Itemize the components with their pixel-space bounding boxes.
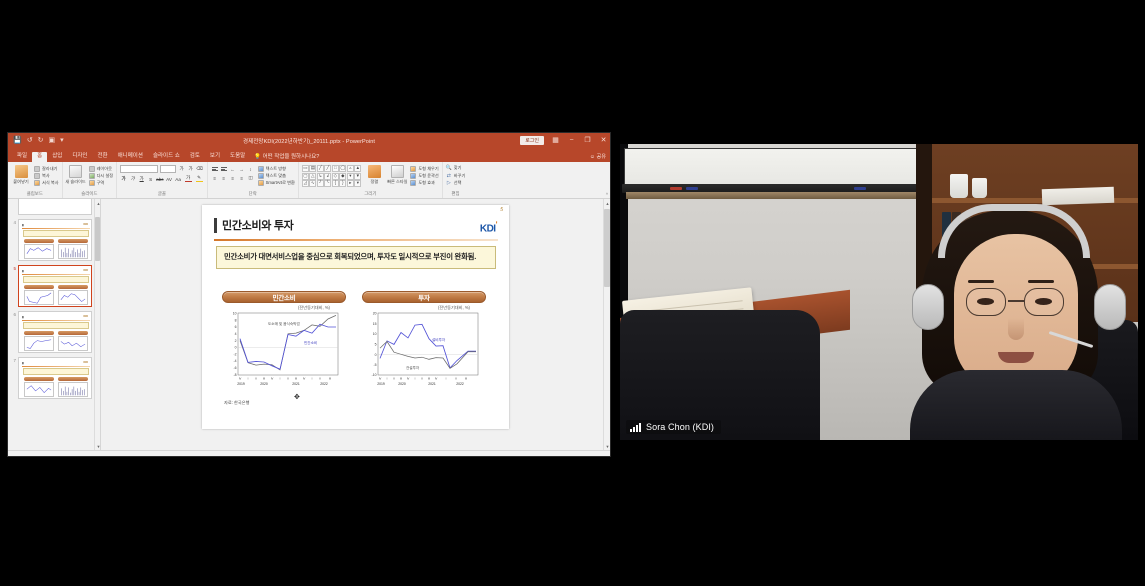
participant-name-badge: Sora Chon (KDI) bbox=[626, 420, 721, 434]
thumbnail-item-7[interactable]: 7 ▮ KDI bbox=[8, 355, 100, 401]
thumbnail-item-5[interactable]: 5 ▮ KDI bbox=[8, 263, 100, 309]
shape-rightarrow-icon[interactable]: ↳ bbox=[317, 173, 324, 180]
chart-source-note: 자료: 한국은행 bbox=[224, 400, 249, 406]
group-label-paragraph: 단락 bbox=[211, 191, 295, 198]
convert-smartart-button[interactable]: SmartArt로 변환 bbox=[258, 180, 295, 186]
svg-text:2: 2 bbox=[235, 339, 237, 343]
shape-outline-icon bbox=[410, 173, 416, 179]
format-painter-icon bbox=[34, 180, 40, 186]
svg-text:III: III bbox=[263, 377, 265, 381]
shape-brace-right-icon[interactable]: } bbox=[339, 180, 346, 187]
smartart-icon bbox=[258, 180, 264, 186]
video-participant-tile[interactable]: Sora Chon (KDI) bbox=[620, 144, 1138, 440]
eye-right bbox=[1035, 298, 1052, 305]
svg-text:2021: 2021 bbox=[292, 382, 300, 386]
quick-styles-button[interactable]: 빠른 스타일 bbox=[387, 165, 407, 185]
group-label-slides: 슬라이드 bbox=[66, 191, 114, 198]
eyebrow-right bbox=[1028, 280, 1054, 283]
clear-formatting-button[interactable]: ⌫ bbox=[196, 165, 203, 173]
chart-header-private-consumption[interactable]: 민간소비 bbox=[222, 291, 346, 303]
paste-button[interactable]: 붙여넣기 bbox=[11, 165, 31, 185]
shape-effects-icon bbox=[410, 180, 416, 186]
pill-label-right: 투자 bbox=[418, 292, 430, 302]
svg-text:2020: 2020 bbox=[260, 382, 268, 386]
reset-button[interactable]: 다시 설정 bbox=[89, 173, 114, 179]
svg-text:-6: -6 bbox=[233, 366, 236, 370]
svg-text:III: III bbox=[400, 377, 402, 381]
text-direction-icon bbox=[258, 166, 264, 172]
columns-button[interactable]: ◫ bbox=[247, 174, 255, 182]
kdi-logo: KDIʹ bbox=[480, 220, 497, 234]
chart-header-investment[interactable]: 투자 bbox=[362, 291, 486, 303]
shape-fill-icon bbox=[410, 166, 416, 172]
svg-text:-10: -10 bbox=[372, 373, 377, 377]
cut-button[interactable]: 잘라내기 bbox=[34, 166, 59, 172]
svg-text:III: III bbox=[465, 377, 467, 381]
section-button[interactable]: 구역 bbox=[89, 180, 114, 186]
find-label: 찾기 bbox=[454, 165, 462, 171]
tab-file[interactable]: 파일 bbox=[12, 152, 32, 163]
eyeglasses-bridge bbox=[1008, 300, 1024, 302]
svg-text:4: 4 bbox=[235, 332, 237, 336]
svg-text:IV: IV bbox=[379, 377, 382, 381]
shape-rectangle-icon[interactable]: ▭ bbox=[302, 165, 309, 172]
character-spacing-button[interactable]: AV bbox=[166, 175, 173, 183]
share-button[interactable]: ☺ 공유 bbox=[590, 153, 606, 160]
participant-person bbox=[910, 210, 1122, 440]
svg-text:IV: IV bbox=[303, 377, 306, 381]
replace-button[interactable]: ⇄ 바꾸기 bbox=[446, 173, 466, 179]
shape-line-icon[interactable]: ╱ bbox=[317, 165, 324, 172]
ribbon-display-options-icon[interactable]: ▦ bbox=[551, 137, 560, 144]
arrange-button[interactable]: 정렬 bbox=[364, 165, 384, 185]
shape-fill-label: 도형 채우기 bbox=[418, 166, 438, 172]
format-painter-label: 서식 복사 bbox=[42, 180, 59, 186]
convert-smartart-label: SmartArt로 변환 bbox=[266, 180, 295, 186]
align-text-label: 텍스트 맞춤 bbox=[266, 173, 286, 179]
ribbon-group-drawing: ▭ ▤ ╱ ╱ □ ◯ ▵ ▲ ▢ △ ↳ ↲ ◇ ◆ ▾ bbox=[299, 162, 443, 198]
wall-shelf bbox=[626, 192, 918, 199]
svg-text:-2: -2 bbox=[233, 352, 236, 356]
shape-effects-button[interactable]: 도형 효과 bbox=[410, 180, 438, 186]
blue-marker bbox=[686, 187, 698, 190]
group-label-editing: 편집 bbox=[446, 191, 466, 198]
strikethrough-button[interactable]: abc bbox=[156, 175, 163, 183]
svg-text:2022: 2022 bbox=[456, 382, 464, 386]
ribbon-group-clipboard: 붙여넣기 잘라내기 복사 서식 복사 bbox=[8, 162, 63, 198]
ribbon-group-paragraph: ← → ↕ ≡ ≡ ≡ ≡ ◫ bbox=[208, 162, 299, 198]
paper-cup-2 bbox=[972, 178, 987, 198]
title-bar: 💾 ↺ ↻ ▣ ▾ 경제전망KDI(2022년하반기)_20111.pptx -… bbox=[8, 133, 610, 148]
ribbon: 붙여넣기 잘라내기 복사 서식 복사 bbox=[8, 162, 610, 199]
select-icon: ▷ bbox=[446, 180, 452, 186]
group-label-font: 글꼴 bbox=[120, 191, 203, 198]
select-button[interactable]: ▷ 선택 bbox=[446, 180, 466, 186]
scissors-icon bbox=[34, 166, 40, 172]
chart-investment[interactable]: 2015 105 0-5 -10 설비투자 건설투자 IVIII bbox=[362, 311, 486, 395]
highlight-swatch bbox=[196, 181, 203, 183]
svg-text:-8: -8 bbox=[233, 373, 236, 377]
slide-title-block[interactable]: 민간소비와 투자 bbox=[214, 217, 294, 233]
paste-label: 붙여넣기 bbox=[13, 179, 28, 185]
current-slide[interactable]: 5 민간소비와 투자 KDIʹ 민간소비가 대면서비스업을 중심으로 회복되었으… bbox=[202, 205, 509, 429]
stage-scroll-up-icon[interactable]: ▲ bbox=[604, 199, 611, 207]
tell-me-search[interactable]: 💡 어떤 작업을 원하시나요? bbox=[250, 150, 323, 162]
font-color-swatch bbox=[185, 181, 192, 183]
ribbon-group-font: 가 가 ⌫ 가 가 가 S abc AV Aa 가 bbox=[117, 162, 207, 198]
tab-slideshow[interactable]: 슬라이드 쇼 bbox=[148, 152, 185, 163]
group-label-clipboard: 클립보드 bbox=[11, 191, 59, 198]
screen-root: 💾 ↺ ↻ ▣ ▾ 경제전망KDI(2022년하반기)_20111.pptx -… bbox=[0, 0, 1145, 586]
svg-text:II: II bbox=[319, 377, 321, 381]
align-right-button[interactable]: ≡ bbox=[229, 174, 237, 182]
chart-right-svg: 2015 105 0-5 -10 설비투자 건설투자 IVIII bbox=[362, 311, 486, 395]
svg-text:-4: -4 bbox=[233, 359, 236, 363]
italic-button[interactable]: 가 bbox=[129, 175, 136, 183]
shape-square-icon[interactable]: □ bbox=[332, 165, 339, 172]
shape-effects-label: 도형 효과 bbox=[418, 180, 435, 186]
thumbnail-item-6[interactable]: 6 ▮ KDI bbox=[8, 309, 100, 355]
group-label-drawing: 그리기 bbox=[302, 191, 439, 198]
notes-pane[interactable]: ▪ 여기에 슬라이드 노트의 내용을 입력하십시오 bbox=[8, 450, 610, 457]
svg-text:II: II bbox=[393, 377, 395, 381]
search-icon: 🔍 bbox=[446, 165, 452, 171]
change-case-button[interactable]: Aa bbox=[175, 175, 182, 183]
svg-text:I: I bbox=[312, 377, 313, 381]
stage-scroll-thumb[interactable] bbox=[604, 209, 610, 287]
layout-icon bbox=[89, 166, 95, 172]
eyebrow-left bbox=[968, 280, 994, 283]
workspace: 4 ▮ KDI 5 ▮ KDI bbox=[8, 199, 610, 450]
shape-oval-icon[interactable]: ◯ bbox=[339, 165, 346, 172]
bold-button[interactable]: 가 bbox=[120, 175, 127, 183]
window-controls: 로그인 ▦ − ❐ ✕ bbox=[520, 136, 608, 145]
align-center-button[interactable]: ≡ bbox=[220, 174, 228, 182]
svg-text:II: II bbox=[421, 377, 423, 381]
shape-connector-icon[interactable]: ╰ bbox=[324, 180, 331, 187]
text-direction-button[interactable]: 텍스트 방향 bbox=[258, 166, 295, 172]
svg-text:I: I bbox=[415, 377, 416, 381]
svg-text:IV: IV bbox=[239, 377, 242, 381]
thumbnail-scroll-thumb[interactable] bbox=[95, 217, 100, 261]
tab-insert[interactable]: 삽입 bbox=[47, 152, 67, 163]
increase-indent-button[interactable]: → bbox=[238, 165, 246, 173]
svg-text:20: 20 bbox=[373, 312, 377, 316]
thumbnail-scrollbar[interactable]: ▲ ▼ bbox=[94, 199, 100, 450]
slide-stage-scrollbar[interactable]: ▲ ▼ bbox=[603, 199, 610, 450]
thumb-kdi-logo: KDI bbox=[84, 315, 88, 318]
tab-animations[interactable]: 애니메이션 bbox=[113, 152, 148, 163]
svg-text:I: I bbox=[446, 377, 447, 381]
section-icon bbox=[89, 180, 95, 186]
slide-thumbnail-7[interactable]: ▮ KDI bbox=[18, 357, 92, 399]
copy-button[interactable]: 복사 bbox=[34, 173, 59, 179]
svg-text:5: 5 bbox=[375, 343, 377, 347]
svg-text:2021: 2021 bbox=[428, 382, 436, 386]
font-name-input[interactable] bbox=[120, 165, 158, 173]
cut-label: 잘라내기 bbox=[42, 166, 57, 172]
mouse-cursor-icon: ✥ bbox=[294, 393, 300, 401]
svg-text:10: 10 bbox=[233, 312, 237, 316]
shape-scribble-icon[interactable]: ∿ bbox=[309, 180, 316, 187]
pill-label-left: 민간소비 bbox=[272, 292, 295, 302]
new-slide-icon bbox=[69, 165, 82, 178]
bullets-button[interactable] bbox=[211, 165, 219, 173]
svg-text:민간소비: 민간소비 bbox=[304, 340, 317, 345]
thumbnail-item-4[interactable]: 4 ▮ KDI bbox=[8, 217, 100, 263]
thumbnail-number-6: 6 bbox=[11, 311, 16, 317]
shape-pentagon-icon[interactable]: ◆ bbox=[339, 173, 346, 180]
chart-left-svg: 108 64 20 -2-4 -6-8 도소매 및 음식숙박업 민간소비 bbox=[222, 311, 346, 395]
align-text-button[interactable]: 텍스트 맞춤 bbox=[258, 173, 295, 179]
shapes-gallery[interactable]: ▭ ▤ ╱ ╱ □ ◯ ▵ ▲ ▢ △ ↳ ↲ ◇ ◆ ▾ bbox=[302, 165, 362, 187]
chart-private-consumption[interactable]: 108 64 20 -2-4 -6-8 도소매 및 음식숙박업 민간소비 bbox=[222, 311, 346, 395]
shape-textbox-icon[interactable]: ▤ bbox=[309, 165, 316, 172]
svg-text:III: III bbox=[329, 377, 331, 381]
quick-styles-label: 빠른 스타일 bbox=[387, 179, 407, 185]
align-left-button[interactable]: ≡ bbox=[211, 174, 219, 182]
svg-text:2022: 2022 bbox=[320, 382, 328, 386]
headset-earcup-right bbox=[1094, 284, 1126, 330]
svg-text:I: I bbox=[280, 377, 281, 381]
thumbnail-number-5: 5 bbox=[11, 265, 16, 271]
svg-text:-5: -5 bbox=[373, 363, 376, 367]
svg-text:건설투자: 건설투자 bbox=[406, 365, 420, 370]
slide-thumbnail[interactable] bbox=[18, 199, 92, 215]
svg-text:IV: IV bbox=[407, 377, 410, 381]
text-highlight-button[interactable]: ✎ bbox=[195, 176, 204, 182]
shape-more-1-icon[interactable]: ▵ bbox=[347, 165, 354, 172]
svg-text:설비투자: 설비투자 bbox=[432, 337, 446, 342]
tab-design[interactable]: 디자인 bbox=[67, 152, 92, 163]
svg-text:도소매 및 음식숙박업: 도소매 및 음식숙박업 bbox=[268, 321, 300, 326]
new-slide-button[interactable]: 새 슬라이드 bbox=[66, 165, 86, 185]
shape-arrow-icon[interactable]: ╱ bbox=[324, 165, 331, 172]
decrease-indent-button[interactable]: ← bbox=[229, 165, 237, 173]
shape-curve-icon[interactable]: ↲ bbox=[324, 173, 331, 180]
svg-text:10: 10 bbox=[373, 332, 377, 336]
kdi-logo-tick: ʹ bbox=[496, 220, 497, 229]
tab-help[interactable]: 도움말 bbox=[225, 152, 250, 163]
thumbnail-item-partial[interactable] bbox=[8, 199, 100, 217]
ribbon-group-editing: 🔍 찾기 ⇄ 바꾸기 ▷ 선택 편집 bbox=[443, 162, 469, 198]
shape-roundrect-icon[interactable]: ▢ bbox=[302, 173, 309, 180]
select-label: 선택 bbox=[454, 180, 462, 186]
ribbon-tab-strip: 파일 홈 삽입 디자인 전환 애니메이션 슬라이드 쇼 검토 보기 도움말 💡 … bbox=[8, 148, 610, 162]
svg-text:0: 0 bbox=[235, 346, 237, 350]
slide-thumbnail-pane[interactable]: 4 ▮ KDI 5 ▮ KDI bbox=[8, 199, 101, 450]
section-label: 구역 bbox=[97, 180, 105, 186]
torso bbox=[910, 370, 1122, 440]
reset-icon bbox=[89, 173, 95, 179]
thumb-kdi-logo: KDI bbox=[84, 223, 88, 226]
svg-text:II: II bbox=[287, 377, 289, 381]
copy-icon bbox=[34, 173, 40, 179]
quick-styles-icon bbox=[391, 165, 404, 178]
mouth bbox=[998, 352, 1034, 363]
signal-strength-icon bbox=[630, 423, 641, 432]
copy-label: 복사 bbox=[42, 173, 50, 179]
shape-freeform-icon[interactable]: ◿ bbox=[302, 180, 309, 187]
svg-text:0: 0 bbox=[375, 353, 377, 357]
font-color-button[interactable]: 가 bbox=[184, 176, 193, 182]
shape-fill-button[interactable]: 도형 채우기 bbox=[410, 166, 438, 172]
underline-button[interactable]: 가 bbox=[138, 175, 145, 183]
summary-callout[interactable]: 민간소비가 대면서비스업을 중심으로 회복되었으며, 투자도 일시적으로 부진이… bbox=[216, 246, 496, 269]
slide-editing-stage: 5 민간소비와 투자 KDIʹ 민간소비가 대면서비스업을 중심으로 회복되었으… bbox=[101, 199, 610, 450]
title-accent-bar bbox=[214, 218, 217, 233]
replace-label: 바꾸기 bbox=[454, 173, 466, 179]
svg-text:I: I bbox=[387, 377, 388, 381]
headset-earcup-left bbox=[912, 284, 944, 330]
thumbnail-number-7: 7 bbox=[11, 357, 16, 363]
svg-text:15: 15 bbox=[373, 322, 377, 326]
shape-scroll-up-icon[interactable]: ▲ bbox=[354, 165, 361, 172]
paper-cup bbox=[950, 174, 968, 198]
shape-triangle-icon[interactable]: △ bbox=[309, 173, 316, 180]
collapse-ribbon-icon[interactable]: ^ bbox=[606, 192, 608, 197]
slide-thumbnail-6[interactable]: ▮ KDI bbox=[18, 311, 92, 353]
paste-icon bbox=[15, 165, 28, 178]
line-spacing-button[interactable]: ↕ bbox=[247, 165, 255, 173]
justify-button[interactable]: ≡ bbox=[238, 174, 246, 182]
text-shadow-button[interactable]: S bbox=[147, 175, 154, 183]
summary-text: 민간소비가 대면서비스업을 중심으로 회복되었으며, 투자도 일시적으로 부진이… bbox=[224, 252, 488, 263]
reset-label: 다시 설정 bbox=[97, 173, 114, 179]
shape-arc-icon[interactable]: ╯ bbox=[317, 180, 324, 187]
tab-home[interactable]: 홈 bbox=[32, 152, 47, 163]
svg-text:III: III bbox=[295, 377, 297, 381]
ribbon-group-slides: 새 슬라이드 레이아웃 다시 설정 구역 bbox=[63, 162, 118, 198]
close-button[interactable]: ✕ bbox=[599, 137, 608, 144]
numbering-button[interactable] bbox=[220, 165, 228, 173]
eye-left bbox=[977, 298, 994, 305]
notes-placeholder: 여기에 슬라이드 노트의 내용을 입력하십시오 bbox=[104, 456, 237, 457]
layout-button[interactable]: 레이아웃 bbox=[89, 166, 114, 172]
font-size-input[interactable] bbox=[160, 165, 176, 173]
restore-button[interactable]: ❐ bbox=[583, 137, 592, 144]
headset-band bbox=[938, 204, 1090, 258]
format-painter-button[interactable]: 서식 복사 bbox=[34, 180, 59, 186]
text-direction-label: 텍스트 방향 bbox=[266, 166, 286, 172]
svg-text:6: 6 bbox=[235, 325, 237, 329]
minimize-button[interactable]: − bbox=[567, 137, 576, 144]
shape-brace-left-icon[interactable]: { bbox=[332, 180, 339, 187]
svg-text:I: I bbox=[248, 377, 249, 381]
svg-text:II: II bbox=[455, 377, 457, 381]
arrange-icon bbox=[368, 165, 381, 178]
slide-thumbnail-5-selected[interactable]: ▮ KDI bbox=[18, 265, 92, 307]
participant-name: Sora Chon (KDI) bbox=[646, 422, 714, 432]
thumb-kdi-logo: KDI bbox=[84, 269, 88, 272]
stage-scroll-down-icon[interactable]: ▼ bbox=[604, 442, 611, 450]
tab-view[interactable]: 보기 bbox=[205, 152, 225, 163]
decrease-font-size-button[interactable]: 가 bbox=[187, 165, 194, 173]
slide-thumbnail-4[interactable]: ▮ KDI bbox=[18, 219, 92, 261]
nose bbox=[1008, 318, 1024, 340]
shape-more-2-icon[interactable]: ▾ bbox=[347, 173, 354, 180]
shape-more-3-icon[interactable]: ▸ bbox=[347, 180, 354, 187]
svg-text:IV: IV bbox=[435, 377, 438, 381]
svg-text:II: II bbox=[255, 377, 257, 381]
slide-page-number: 5 bbox=[500, 207, 503, 213]
find-button[interactable]: 🔍 찾기 bbox=[446, 165, 466, 171]
tab-transitions[interactable]: 전환 bbox=[93, 152, 113, 163]
align-text-icon bbox=[258, 173, 264, 179]
new-slide-label: 새 슬라이드 bbox=[65, 179, 85, 185]
svg-text:2020: 2020 bbox=[398, 382, 406, 386]
kdi-logo-text: KDI bbox=[480, 223, 496, 234]
slide-title: 민간소비와 투자 bbox=[222, 217, 294, 233]
svg-text:2019: 2019 bbox=[237, 382, 245, 386]
sign-in-button[interactable]: 로그인 bbox=[520, 136, 544, 145]
svg-text:8: 8 bbox=[235, 318, 237, 322]
replace-icon: ⇄ bbox=[446, 173, 452, 179]
tab-review[interactable]: 검토 bbox=[185, 152, 205, 163]
tell-me-label: 어떤 작업을 원하시나요? bbox=[263, 154, 320, 160]
shape-outline-button[interactable]: 도형 윤곽선 bbox=[410, 173, 438, 179]
shape-diamond-icon[interactable]: ◇ bbox=[332, 173, 339, 180]
stacked-papers bbox=[1042, 187, 1115, 206]
shape-outline-label: 도형 윤곽선 bbox=[418, 173, 438, 179]
share-label: 공유 bbox=[596, 154, 606, 160]
red-marker bbox=[670, 187, 682, 190]
powerpoint-window: 💾 ↺ ↻ ▣ ▾ 경제전망KDI(2022년하반기)_20111.pptx -… bbox=[7, 132, 611, 457]
svg-text:III: III bbox=[428, 377, 430, 381]
thumbnail-number-4: 4 bbox=[11, 219, 16, 225]
thumb-kdi-logo: KDI bbox=[84, 361, 88, 364]
svg-text:2019: 2019 bbox=[377, 382, 385, 386]
blue-marker-2 bbox=[854, 187, 866, 190]
shape-scroll-down-icon[interactable]: ▼ bbox=[354, 173, 361, 180]
increase-font-size-button[interactable]: 가 bbox=[178, 165, 185, 173]
svg-text:IV: IV bbox=[271, 377, 274, 381]
layout-label: 레이아웃 bbox=[97, 166, 112, 172]
title-divider bbox=[214, 239, 498, 241]
shape-gallery-expand-icon[interactable]: ▾ bbox=[354, 180, 361, 187]
arrange-label: 정렬 bbox=[370, 179, 378, 185]
